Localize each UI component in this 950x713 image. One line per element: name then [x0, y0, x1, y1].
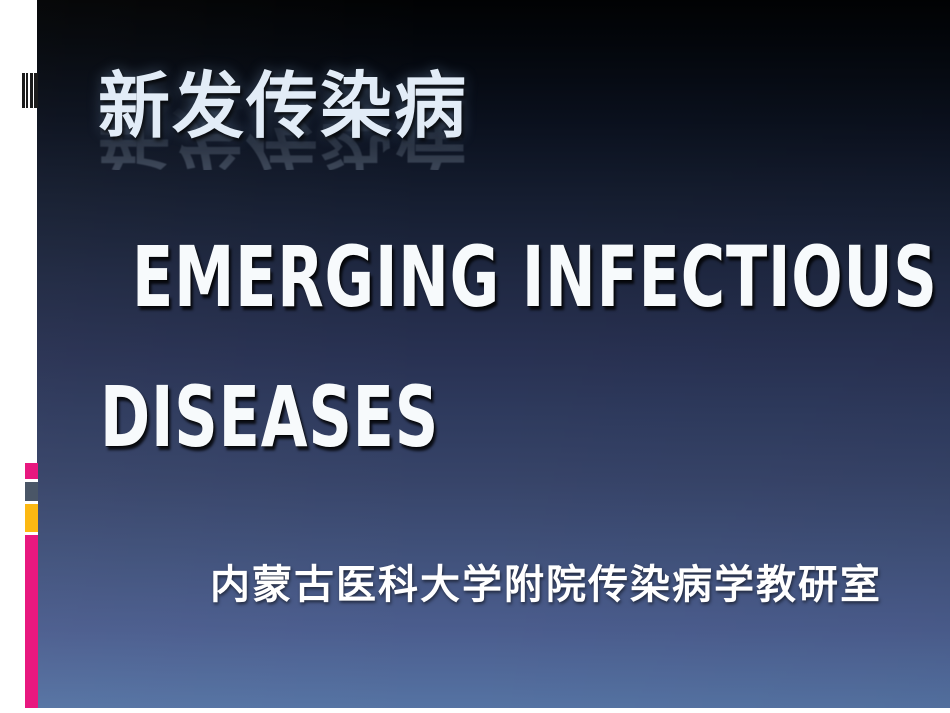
english-title-line-1: EMERGING INFECTIOUS: [132, 228, 938, 326]
presentation-slide: 新发传染病 新发传染病 EMERGING INFECTIOUS DISEASES…: [0, 0, 950, 713]
barcode-ornament-icon: [22, 73, 38, 108]
slide-bottom-edge: [0, 708, 950, 713]
barcode-bar: [34, 73, 38, 108]
chinese-title: 新发传染病: [98, 70, 468, 142]
color-chip-yellow: [25, 504, 38, 532]
subtitle-affiliation: 内蒙古医科大学附院传染病学教研室: [210, 552, 882, 610]
english-title-line-2: DISEASES: [100, 368, 439, 466]
color-chip-ornament: [25, 463, 38, 713]
color-chip-pink-small: [25, 463, 38, 479]
color-chip-pink-long: [25, 535, 38, 713]
color-chip-slate: [25, 482, 38, 501]
